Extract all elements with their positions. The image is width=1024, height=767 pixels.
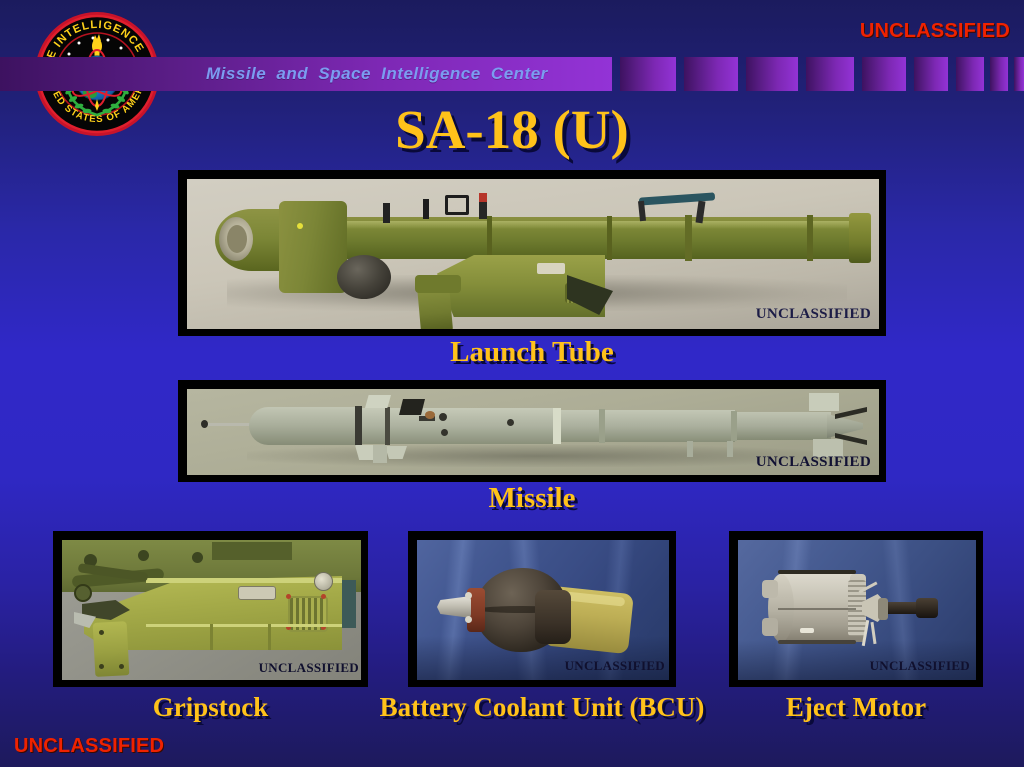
banner-title-text: Missile and Space Intelligence Center	[206, 64, 548, 84]
tube-band	[685, 215, 692, 261]
machinery-bolt	[138, 550, 149, 561]
figure-frame-missile: UNCLASSIFIED	[178, 380, 886, 482]
inner-classification-missile: UNCLASSIFIED	[756, 454, 871, 471]
panel-seam	[146, 624, 342, 627]
trigger-guard	[415, 275, 461, 293]
motor-band	[778, 640, 856, 644]
gripstock-nameplate	[238, 586, 276, 600]
missile-stand	[727, 441, 733, 457]
missile-canard	[365, 395, 391, 408]
missile-seeker-section	[249, 407, 359, 445]
pistol-grip	[93, 621, 130, 677]
gripstock-dial	[314, 572, 333, 591]
motor-cap-lug	[762, 618, 778, 636]
missile-stand	[687, 441, 693, 457]
tube-muzzle-right	[849, 213, 871, 263]
sight-ring	[445, 195, 469, 215]
banner-segment	[914, 57, 948, 91]
machinery-bolt	[192, 552, 203, 563]
missile-detail-connector	[425, 411, 435, 419]
photo-shadow	[247, 445, 827, 467]
organization-banner: Missile and Space Intelligence Center	[0, 57, 1024, 91]
missile-joint-ring	[355, 406, 362, 446]
grip-screw	[119, 664, 124, 669]
sphere-neck	[535, 590, 571, 644]
missile-tail-fin	[809, 393, 839, 411]
banner-segment	[956, 57, 984, 91]
missile-joint-ring	[553, 408, 561, 444]
tube-band	[807, 215, 813, 261]
missile-tail-cone	[827, 414, 863, 438]
motor-cap-lug	[762, 580, 778, 598]
figure-caption-eject-motor: Eject Motor	[729, 692, 983, 723]
inner-classification-eject-motor: UNCLASSIFIED	[870, 658, 970, 674]
figure-caption-missile: Missile	[178, 482, 886, 515]
launch-tube-highlight	[317, 221, 857, 229]
sight-post	[383, 203, 390, 223]
banner-segment	[806, 57, 854, 91]
figure-caption-launch-tube: Launch Tube	[178, 336, 886, 369]
slide-canvas: UNCLASSIFIED UNCLASSIFIED DEFENSE INTELL…	[0, 0, 1024, 767]
figure-frame-bcu: UNCLASSIFIED	[408, 531, 676, 687]
connector-pin	[465, 592, 472, 599]
missile-joint-ring	[385, 407, 390, 445]
grip-screw	[99, 664, 104, 669]
photo-bcu: UNCLASSIFIED	[417, 540, 669, 680]
machinery-bar	[212, 542, 292, 560]
inner-classification-bcu: UNCLASSIFIED	[565, 658, 665, 674]
figure-caption-bcu: Battery Coolant Unit (BCU)	[372, 692, 712, 723]
motor-seam	[778, 608, 856, 610]
shaft-clamp	[878, 598, 888, 620]
banner-segment	[990, 57, 1008, 91]
banner-segment	[684, 57, 738, 91]
collar-dot	[297, 223, 303, 229]
figure-frame-gripstock: UNCLASSIFIED	[53, 531, 368, 687]
missile-detail-hole	[441, 429, 448, 436]
shaft-end-nut	[916, 598, 938, 618]
missile-joint-ring	[599, 409, 605, 443]
missile-detail-hole	[507, 419, 514, 426]
panel-seam	[210, 624, 213, 650]
figure-caption-gripstock: Gripstock	[53, 692, 368, 723]
panel-seam	[268, 624, 271, 650]
sight-post	[423, 199, 429, 219]
banner-segment	[862, 57, 906, 91]
missile-tail-fin	[835, 407, 867, 419]
tube-band	[487, 216, 492, 260]
photo-missile: UNCLASSIFIED	[187, 389, 879, 475]
connector-pin	[465, 616, 472, 623]
inner-classification-launch-tube: UNCLASSIFIED	[756, 306, 871, 323]
tube-nozzle-bore-inner	[227, 225, 247, 253]
banner-segment	[1014, 57, 1024, 91]
motor-label	[800, 628, 814, 633]
figure-frame-eject-motor: UNCLASSIFIED	[729, 531, 983, 687]
photo-launch-tube: UNCLASSIFIED	[187, 179, 879, 329]
motor-band	[778, 570, 856, 574]
photo-gripstock: UNCLASSIFIED	[62, 540, 361, 680]
bcu-sphere-attached	[337, 255, 391, 299]
grip-screw	[99, 630, 104, 635]
inner-classification-gripstock: UNCLASSIFIED	[259, 660, 359, 676]
missile-motor-section	[559, 410, 735, 442]
missile-detail-connector	[399, 399, 425, 415]
missile-joint-ring	[731, 411, 737, 441]
sight-indicator-red	[479, 193, 487, 202]
probe-tip	[201, 420, 208, 428]
classification-banner-top: UNCLASSIFIED	[860, 20, 1010, 43]
banner-segment	[746, 57, 798, 91]
missile-detail-hole	[439, 413, 447, 421]
classification-banner-bottom: UNCLASSIFIED	[14, 735, 164, 758]
missile-tail-section	[735, 412, 831, 440]
slide-title: SA-18 (U)	[0, 101, 1024, 159]
linkage-pivot	[74, 584, 92, 602]
missile-nose-probe	[205, 423, 251, 426]
gripstock-plate	[537, 263, 565, 274]
tube-band	[607, 216, 612, 260]
figure-frame-launch-tube: UNCLASSIFIED	[178, 170, 886, 336]
grille-screw	[286, 594, 291, 599]
gripstock-edge-highlight	[146, 578, 342, 583]
photo-eject-motor: UNCLASSIFIED	[738, 540, 976, 680]
grille-screw	[321, 594, 326, 599]
banner-segment	[620, 57, 676, 91]
missile-stand	[373, 445, 387, 463]
